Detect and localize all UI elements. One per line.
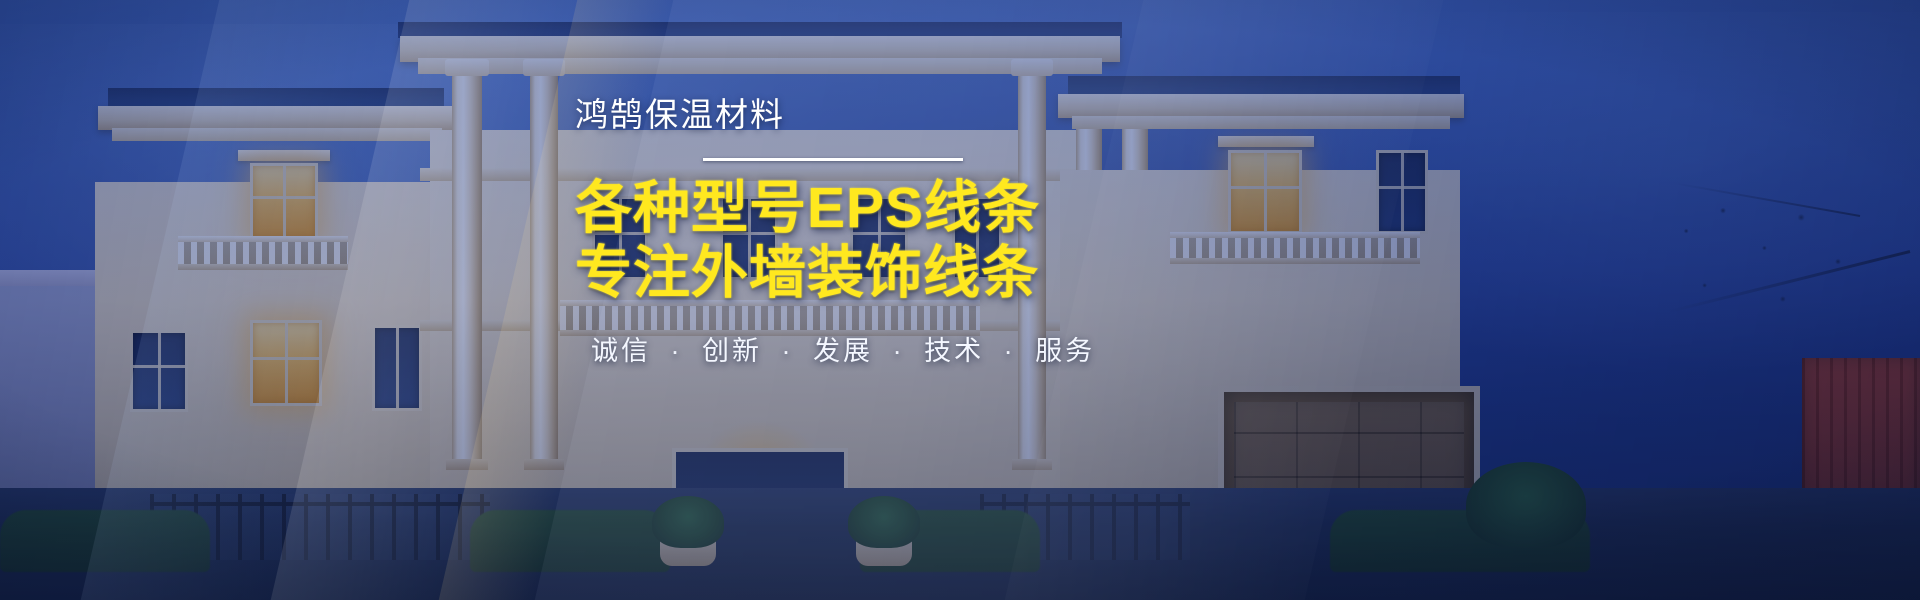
headline-line-1: 各种型号EPS线条 — [575, 178, 1195, 238]
tagline-separator: · — [884, 336, 914, 366]
tagline-separator: · — [773, 336, 803, 366]
company-name: 鸿鹄保温材料 — [575, 98, 1195, 131]
headline-line-2: 专注外墙装饰线条 — [575, 243, 1195, 303]
divider-rule — [703, 158, 963, 161]
tagline-separator: · — [995, 336, 1025, 366]
tagline: 诚信 · 创新 · 发展 · 技术 · 服务 — [591, 338, 1195, 365]
tagline-item-5: 服务 — [1035, 336, 1095, 366]
tagline-item-2: 创新 — [702, 336, 762, 366]
tagline-item-1: 诚信 — [591, 336, 651, 366]
tagline-item-4: 技术 — [924, 336, 984, 366]
tagline-separator: · — [662, 336, 692, 366]
tagline-item-3: 发展 — [813, 336, 873, 366]
hero-banner: 鸿鹄保温材料 各种型号EPS线条 专注外墙装饰线条 诚信 · 创新 · 发展 ·… — [0, 0, 1920, 600]
banner-copy-block: 鸿鹄保温材料 各种型号EPS线条 专注外墙装饰线条 诚信 · 创新 · 发展 ·… — [575, 98, 1195, 365]
